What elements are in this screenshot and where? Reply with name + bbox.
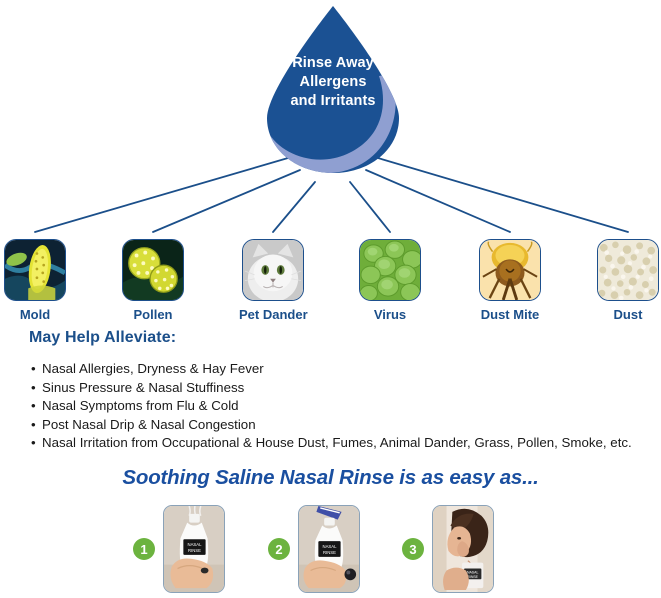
droplet-graphic: Rinse Away Allergens and Irritants [253,2,413,177]
pollen-icon [122,239,184,301]
list-item: •Nasal Allergies, Dryness & Hay Fever [31,360,632,379]
bullet-icon: • [31,434,42,453]
list-item: •Nasal Irritation from Occupational & Ho… [31,434,632,453]
step-3: 3 NASAL RINSE [402,505,494,593]
alleviate-heading: May Help Alleviate: [29,329,176,347]
step-1-fill-bottle-photo: NASAL RINSE [163,505,225,593]
bullet-icon: • [31,397,42,416]
allergen-label-pollen: Pollen [119,307,187,322]
allergen-label-pet-dander: Pet Dander [239,307,307,322]
connector-line-dust-mite [366,170,510,232]
easy-as-heading: Soothing Saline Nasal Rinse is as easy a… [0,466,661,490]
step-number-badge: 2 [268,538,290,560]
alleviate-list: •Nasal Allergies, Dryness & Hay Fever •S… [31,360,632,453]
allergen-label-virus: Virus [356,307,424,322]
allergen-item-mold: Mold [1,239,69,322]
bullet-icon: • [31,416,42,435]
list-item: •Nasal Symptoms from Flu & Cold [31,397,632,416]
allergen-item-dust: Dust [594,239,661,322]
allergen-item-virus: Virus [356,239,424,322]
list-item-text: Nasal Symptoms from Flu & Cold [42,398,239,413]
allergen-label-dust-mite: Dust Mite [476,307,544,322]
connector-line-virus [350,182,390,232]
svg-text:RINSE: RINSE [188,548,201,553]
connector-line-pollen [153,170,300,232]
allergen-item-dust-mite: Dust Mite [476,239,544,322]
svg-text:NASAL: NASAL [467,570,478,574]
step-3-rinse-nose-photo: NASAL RINSE [432,505,494,593]
virus-icon [359,239,421,301]
bullet-icon: • [31,379,42,398]
allergen-item-pet-dander: Pet Dander [239,239,307,322]
svg-text:RINSE: RINSE [467,575,478,579]
allergen-label-dust: Dust [594,307,661,322]
step-2-add-packet-photo: NASAL RINSE [298,505,360,593]
list-item-text: Nasal Irritation from Occupational & Hou… [42,435,632,450]
pet-dander-icon [242,239,304,301]
dust-icon [597,239,659,301]
dust-mite-icon [479,239,541,301]
svg-text:RINSE: RINSE [323,550,336,555]
list-item: •Post Nasal Drip & Nasal Congestion [31,416,632,435]
allergen-item-pollen: Pollen [119,239,187,322]
step-2: 2 NASAL RINSE [268,505,360,593]
connector-line-pet-dander [273,182,315,232]
allergen-label-mold: Mold [1,307,69,322]
connector-line-mold [35,158,288,232]
step-1: 1 NASAL RINSE [133,505,225,593]
list-item-text: Nasal Allergies, Dryness & Hay Fever [42,361,264,376]
droplet-shape [253,2,413,177]
svg-text:NASAL: NASAL [323,544,338,549]
step-number-badge: 3 [402,538,424,560]
step-number-badge: 1 [133,538,155,560]
bullet-icon: • [31,360,42,379]
mold-icon [4,239,66,301]
list-item-text: Sinus Pressure & Nasal Stuffiness [42,380,244,395]
connector-line-dust [378,158,628,232]
svg-text:NASAL: NASAL [188,542,203,547]
list-item: •Sinus Pressure & Nasal Stuffiness [31,379,632,398]
list-item-text: Post Nasal Drip & Nasal Congestion [42,417,256,432]
